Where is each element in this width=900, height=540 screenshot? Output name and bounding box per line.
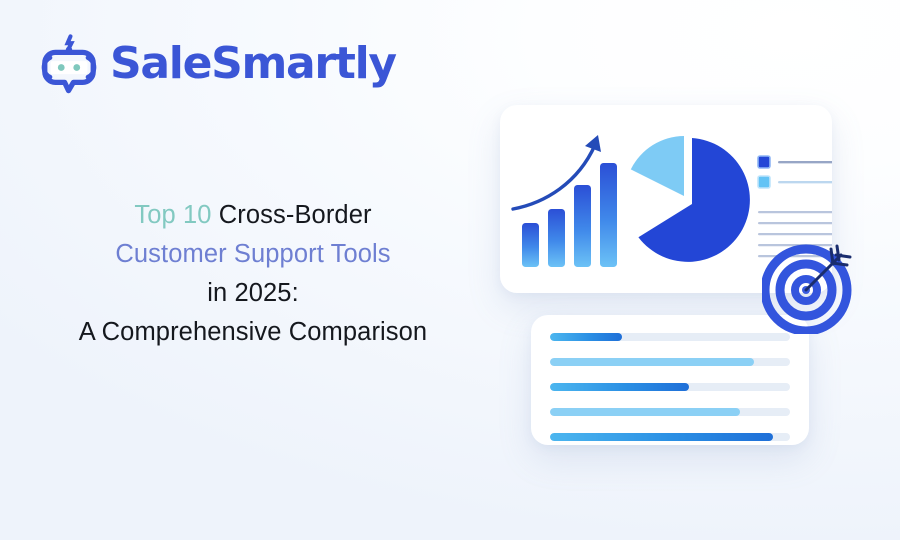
progress-row-1 [550,333,790,341]
robot-eye-right [73,64,80,71]
headline-line-4: A Comprehensive Comparison [28,313,478,352]
legend-line-2 [778,181,832,183]
brand-wordmark: SaleSmartly [110,42,396,86]
bar-3 [574,185,591,267]
legend-swatch-2 [758,176,770,188]
page-title: Top 10 Cross-Border Customer Support Too… [28,196,478,352]
placeholder-line-3 [758,233,832,235]
bar-1 [522,223,539,267]
progress-row-4 [550,408,790,416]
pie-chart-group [631,136,750,262]
bullseye-target-icon [762,242,854,334]
progress-fill-5 [550,433,773,441]
headline-highlight: Top 10 [134,201,211,229]
legend-swatch-1 [758,156,770,168]
headline-line-1: Top 10 Cross-Border [28,196,478,235]
legend-group [758,156,832,188]
legend-line-1 [778,161,832,163]
bar-4 [600,163,617,267]
headline-line-1-rest: Cross-Border [219,201,372,229]
progress-row-2 [550,358,790,366]
bar-2 [548,209,565,267]
progress-row-3 [550,383,790,391]
headline-line-2: Customer Support Tools [28,235,478,274]
progress-fill-3 [550,383,689,391]
placeholder-line-2 [758,222,832,224]
robot-eye-left [58,64,65,71]
cover-canvas: SaleSmartly Top 10 Cross-Border Customer… [0,0,900,540]
progress-row-5 [550,433,790,441]
progress-bar-list [550,333,790,441]
progress-fill-4 [550,408,740,416]
headline-line-3: in 2025: [28,274,478,313]
brand-logo[interactable]: SaleSmartly [38,33,396,95]
progress-fill-1 [550,333,622,341]
pie-slice-secondary [631,136,684,196]
placeholder-line-1 [758,211,832,213]
robot-chat-icon [38,33,100,95]
progress-list-card [531,315,809,445]
progress-fill-2 [550,358,754,366]
